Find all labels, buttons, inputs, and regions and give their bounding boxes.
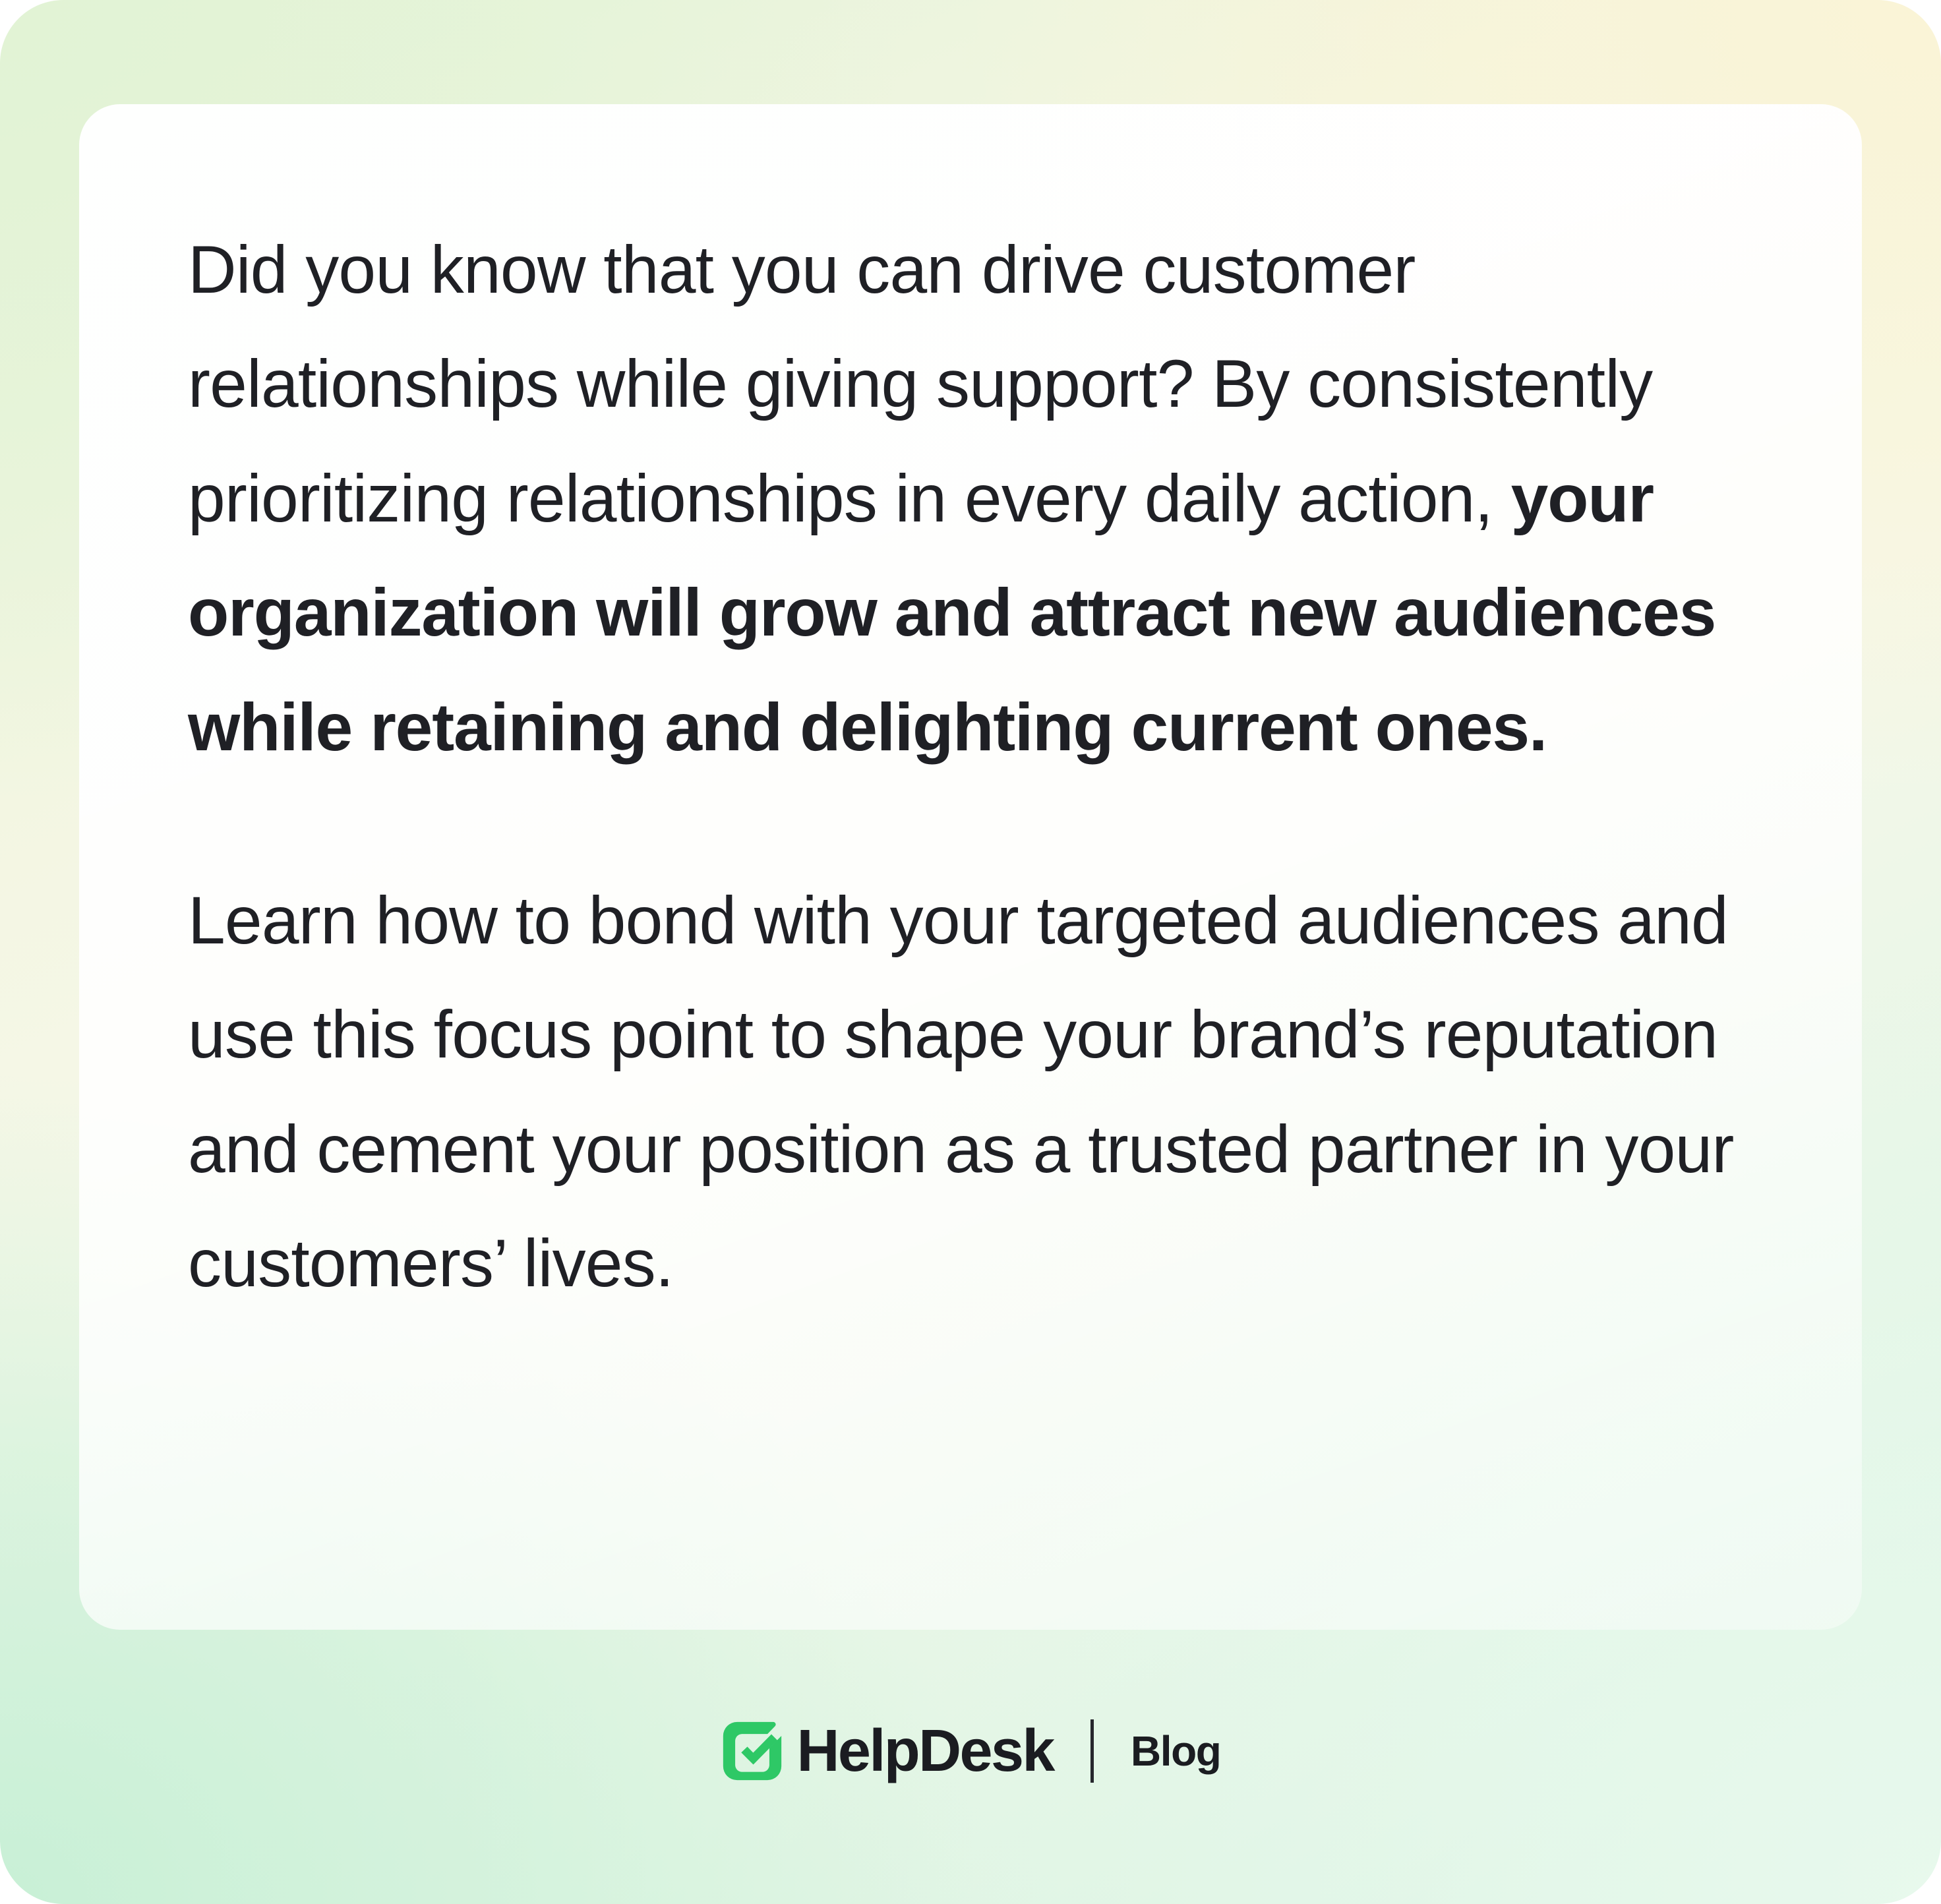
paragraph-primary-lead: Did you know that you can drive customer… [188,232,1652,536]
content-card: Did you know that you can drive customer… [79,104,1862,1630]
helpdesk-checkbox-icon [721,1719,784,1783]
helpdesk-brand-lockup[interactable]: HelpDesk [721,1719,1054,1783]
footer-section-label[interactable]: Blog [1131,1730,1221,1772]
footer-brand-bar: HelpDesk Blog [0,1705,1941,1797]
brand-name-label: HelpDesk [797,1721,1054,1781]
social-card-canvas: Did you know that you can drive customer… [0,0,1941,1904]
paragraph-secondary: Learn how to bond with your targeted aud… [188,864,1757,1321]
paragraph-primary: Did you know that you can drive customer… [188,213,1757,785]
footer-divider [1090,1719,1094,1783]
card-copy: Did you know that you can drive customer… [188,213,1757,1321]
